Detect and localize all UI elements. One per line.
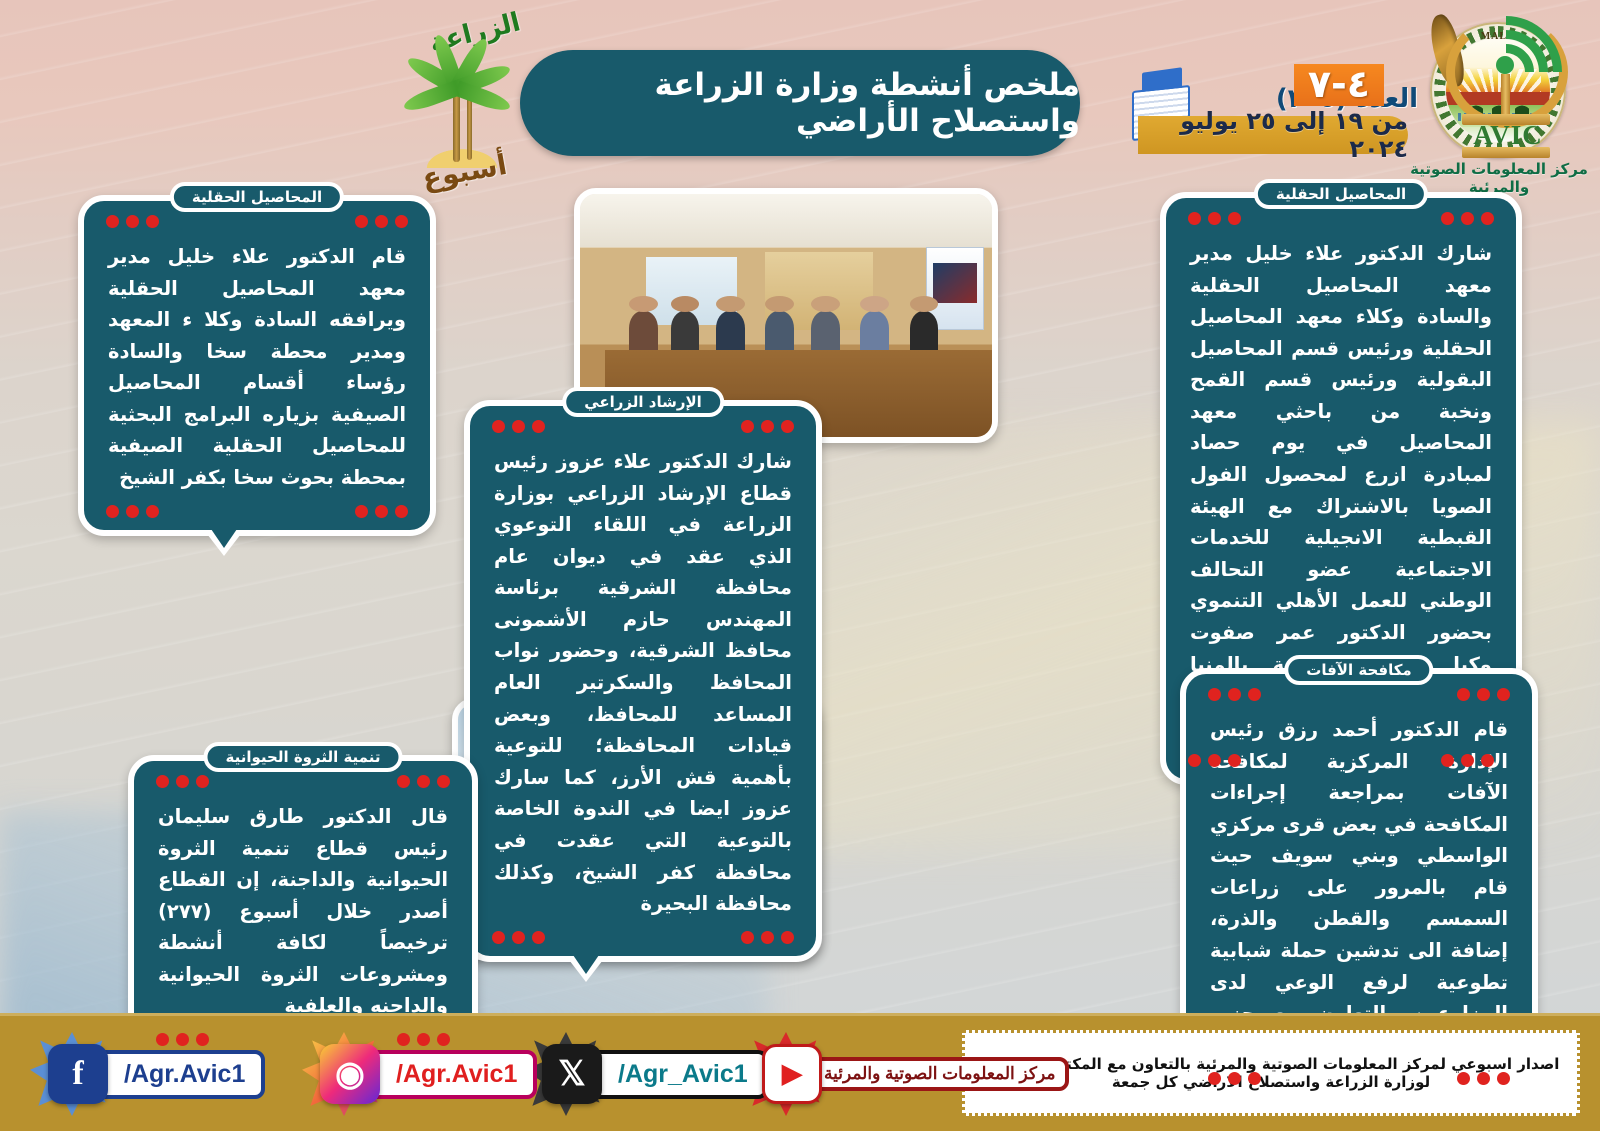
decorative-dots — [1457, 1072, 1510, 1085]
x-icon[interactable]: 𝕏 — [542, 1044, 602, 1104]
conference-attendee — [629, 311, 658, 350]
signal-center-dot-icon — [1496, 56, 1514, 74]
card-tab-label: الإرشاد الزراعي — [562, 387, 724, 417]
card-body-text: قام الدكتور علاء خليل مدير معهد المحاصيل… — [84, 201, 430, 530]
decorative-dots — [397, 775, 450, 788]
decorative-dots — [156, 1033, 209, 1046]
person-head — [811, 296, 840, 312]
decorative-dots — [1208, 688, 1261, 701]
decorative-dots — [1188, 754, 1241, 767]
decorative-dots — [492, 420, 545, 433]
conference-attendee — [716, 311, 745, 350]
issue-badge-group: العدد (٢٠٥) ٤-٧ من ١٩ إلى ٢٥ يوليو ٢٠٢٤ — [1118, 62, 1418, 158]
decorative-dots — [355, 215, 408, 228]
avic-base-bottom — [1462, 147, 1550, 158]
youtube-handle[interactable]: مركز المعلومات الصوتية والمرئية — [810, 1057, 1069, 1092]
palm-tree-decoration: الزراعة أسبوع — [395, 14, 525, 184]
youtube-icon[interactable]: ▶ — [762, 1044, 822, 1104]
person-head — [860, 296, 889, 312]
conference-attendee — [811, 311, 840, 350]
decorative-dots — [1441, 212, 1494, 225]
decorative-dots — [1457, 688, 1510, 701]
speech-tail — [204, 530, 244, 556]
decorative-dots — [1208, 1072, 1261, 1085]
social-link-x[interactable]: 𝕏 /Agr_Avic1 — [542, 1042, 768, 1106]
avic-subtitle: مركز المعلومات الصوتية والمرئية — [1404, 160, 1594, 196]
person-head — [716, 296, 745, 312]
conference-attendee — [860, 311, 889, 350]
header: MALR العدد (٢٠٥) ٤-٧ من ١٩ إلى ٢٥ يوليو … — [0, 0, 1600, 178]
palm-frond-icon — [402, 80, 460, 114]
instagram-handle[interactable]: /Agr.Avic1 — [368, 1050, 537, 1099]
footer: f /Agr.Avic1 ◉ /Agr.Avic1 𝕏 /Agr_Avic1 ▶… — [0, 1013, 1600, 1131]
conference-attendee — [765, 311, 794, 350]
conference-attendee — [910, 311, 939, 350]
decorative-dots — [741, 931, 794, 944]
facebook-icon[interactable]: f — [48, 1044, 108, 1104]
decorative-dots — [106, 215, 159, 228]
social-link-instagram[interactable]: ◉ /Agr.Avic1 — [320, 1042, 537, 1106]
decorative-dots — [1441, 754, 1494, 767]
conference-attendee — [671, 311, 700, 350]
card-tab-label: تنمية الثروة الحيوانية — [204, 742, 403, 772]
decorative-dots — [355, 505, 408, 518]
decorative-dots — [741, 420, 794, 433]
decorative-dots — [156, 775, 209, 788]
social-link-facebook[interactable]: f /Agr.Avic1 — [48, 1042, 265, 1106]
decorative-dots — [106, 505, 159, 518]
decorative-dots — [492, 931, 545, 944]
issue-week-badge: ٤-٧ — [1294, 64, 1384, 106]
card-body-text: شارك الدكتور علاء عزوز رئيس قطاع الإرشاد… — [470, 406, 816, 956]
decorative-dots — [397, 1033, 450, 1046]
decorative-dots — [1188, 212, 1241, 225]
avic-logo: AVIC مركز المعلومات الصوتية والمرئية — [1404, 4, 1594, 184]
card-field-crops-right: المحاصيل الحقلية قام الدكتور علاء خليل م… — [78, 195, 436, 536]
x-handle[interactable]: /Agr_Avic1 — [590, 1050, 768, 1099]
facebook-handle[interactable]: /Agr.Avic1 — [96, 1050, 265, 1099]
card-tab-label: مكافحة الآفات — [1284, 655, 1433, 685]
instagram-icon[interactable]: ◉ — [320, 1044, 380, 1104]
card-tab-label: المحاصيل الحقلية — [1254, 179, 1428, 209]
speech-tail — [566, 956, 606, 982]
page-title: ملخص أنشطة وزارة الزراعة واستصلاح الأراض… — [520, 50, 1080, 156]
card-tab-label: المحاصيل الحقلية — [170, 182, 344, 212]
card-agricultural-extension: الإرشاد الزراعي شارك الدكتور علاء عزوز ر… — [464, 400, 822, 962]
issue-date-range: من ١٩ إلى ٢٥ يوليو ٢٠٢٤ — [1138, 116, 1408, 154]
conference-ceiling — [580, 194, 992, 247]
